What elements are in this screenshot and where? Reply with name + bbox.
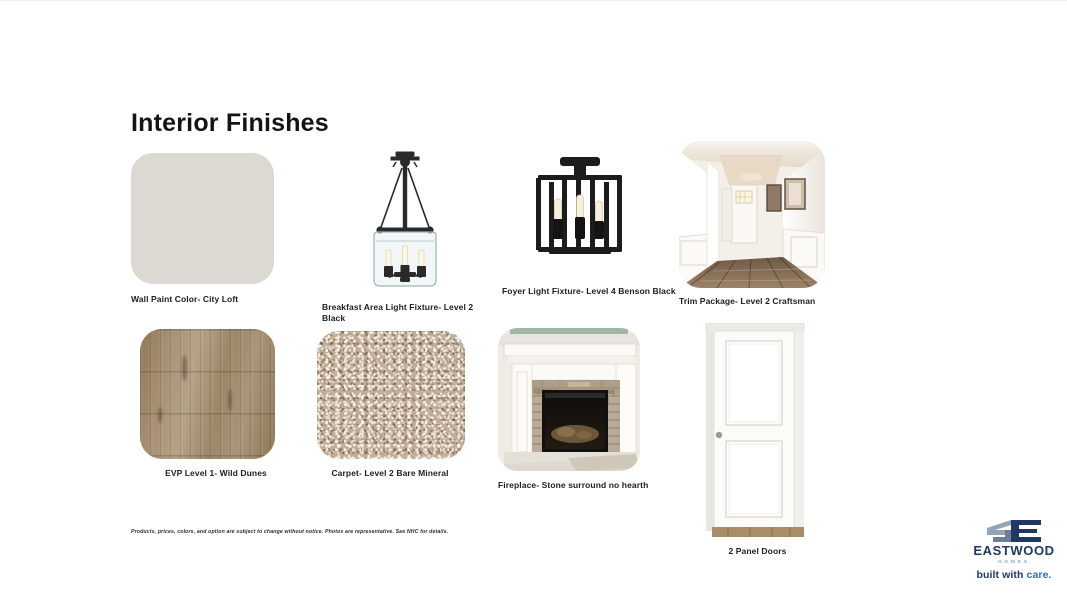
carpet-swatch	[317, 331, 465, 459]
two-panel-door-image	[698, 323, 812, 539]
wood-plank-fill	[140, 329, 275, 459]
hallway-image	[679, 141, 825, 288]
logo-tagline-accent: care.	[1027, 569, 1052, 581]
trim-package-caption: Trim Package- Level 2 Craftsman	[679, 296, 844, 307]
finish-item-wall-paint[interactable]: Wall Paint Color- City Loft	[131, 153, 301, 305]
finish-item-doors[interactable]: 2 Panel Doors	[690, 323, 825, 557]
slide-canvas: Interior Finishes Wall Paint Color- City…	[0, 0, 1067, 600]
door-photo	[698, 323, 812, 539]
evp-flooring-caption: EVP Level 1- Wild Dunes	[131, 468, 301, 479]
finish-item-trim-package[interactable]: Trim Package- Level 2 Craftsman	[679, 141, 844, 307]
wall-paint-swatch	[131, 153, 274, 284]
carpet-texture-fill	[317, 331, 465, 459]
breakfast-light-caption: Breakfast Area Light Fixture- Level 2 Bl…	[322, 302, 497, 324]
paint-color-fill	[131, 153, 274, 284]
fireplace-photo	[498, 328, 640, 471]
cage-bulbs	[553, 195, 604, 239]
logo-tagline: built with care.	[966, 569, 1062, 581]
logo-tagline-lead: built with	[976, 569, 1026, 581]
logo-subword: HOMES	[966, 559, 1062, 564]
finish-item-carpet[interactable]: Carpet- Level 2 Bare Mineral	[305, 331, 475, 479]
evp-flooring-swatch	[140, 329, 275, 459]
finish-item-breakfast-light[interactable]: Breakfast Area Light Fixture- Level 2 Bl…	[322, 146, 497, 324]
foyer-light-photo	[516, 151, 644, 276]
trim-package-photo	[679, 141, 825, 288]
page-title: Interior Finishes	[131, 109, 329, 138]
candle-lights	[384, 246, 426, 282]
wood-grain-knot	[228, 389, 232, 411]
logo-wordmark: EASTWOOD	[966, 544, 1062, 557]
wall-paint-caption: Wall Paint Color- City Loft	[131, 294, 301, 305]
wood-grain-knot	[182, 355, 187, 381]
eastwood-monogram-icon	[985, 519, 1043, 543]
carpet-caption: Carpet- Level 2 Bare Mineral	[305, 468, 475, 479]
fireplace-image	[498, 328, 640, 471]
disclaimer-text: Products, prices, colors, and option are…	[131, 529, 448, 535]
doors-caption: 2 Panel Doors	[690, 546, 825, 557]
foyer-light-caption: Foyer Light Fixture- Level 4 Benson Blac…	[502, 286, 677, 297]
door-knob-icon	[716, 432, 722, 438]
finish-item-fireplace[interactable]: Fireplace- Stone surround no hearth	[498, 328, 658, 491]
fireplace-caption: Fireplace- Stone surround no hearth	[498, 480, 658, 491]
finish-item-foyer-light[interactable]: Foyer Light Fixture- Level 4 Benson Blac…	[502, 151, 677, 297]
finish-item-evp-flooring[interactable]: EVP Level 1- Wild Dunes	[131, 329, 301, 479]
breakfast-light-photo	[350, 146, 460, 293]
wood-grain-knot	[158, 407, 162, 423]
pendant-light-icon	[350, 146, 460, 293]
eastwood-homes-logo: EASTWOOD HOMES built with care.	[966, 519, 1062, 581]
cage-ceiling-light-icon	[516, 151, 644, 276]
